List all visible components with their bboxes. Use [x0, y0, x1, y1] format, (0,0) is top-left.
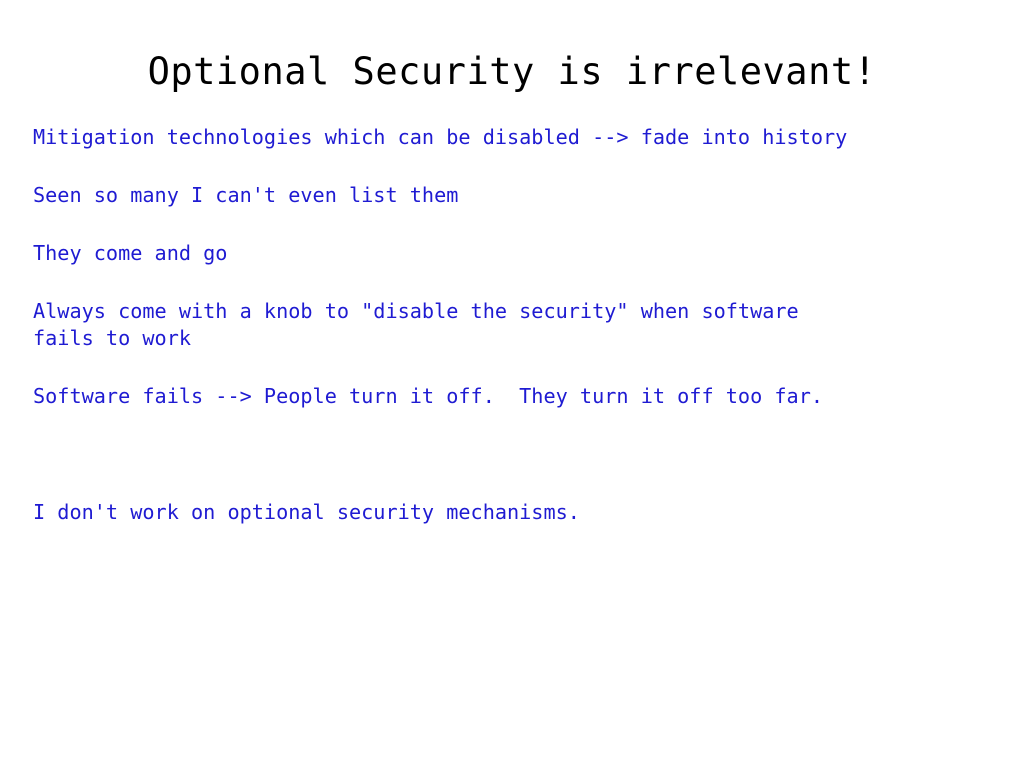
- bullet-seen-so-many: Seen so many I can't even list them: [33, 182, 1008, 209]
- bullet-software-fails: Software fails --> People turn it off. T…: [33, 383, 1008, 410]
- bullet-mitigation-technologies: Mitigation technologies which can be dis…: [33, 124, 1008, 151]
- bullet-i-dont-work-on-optional: I don't work on optional security mechan…: [33, 499, 1008, 526]
- bullet-always-come-with-a-knob: Always come with a knob to "disable the …: [33, 298, 1008, 352]
- slide-body: Mitigation technologies which can be dis…: [33, 124, 1008, 526]
- slide-canvas: Optional Security is irrelevant! Mitigat…: [0, 0, 1024, 768]
- bullet-they-come-and-go: They come and go: [33, 240, 1008, 267]
- page-title: Optional Security is irrelevant!: [0, 49, 1024, 95]
